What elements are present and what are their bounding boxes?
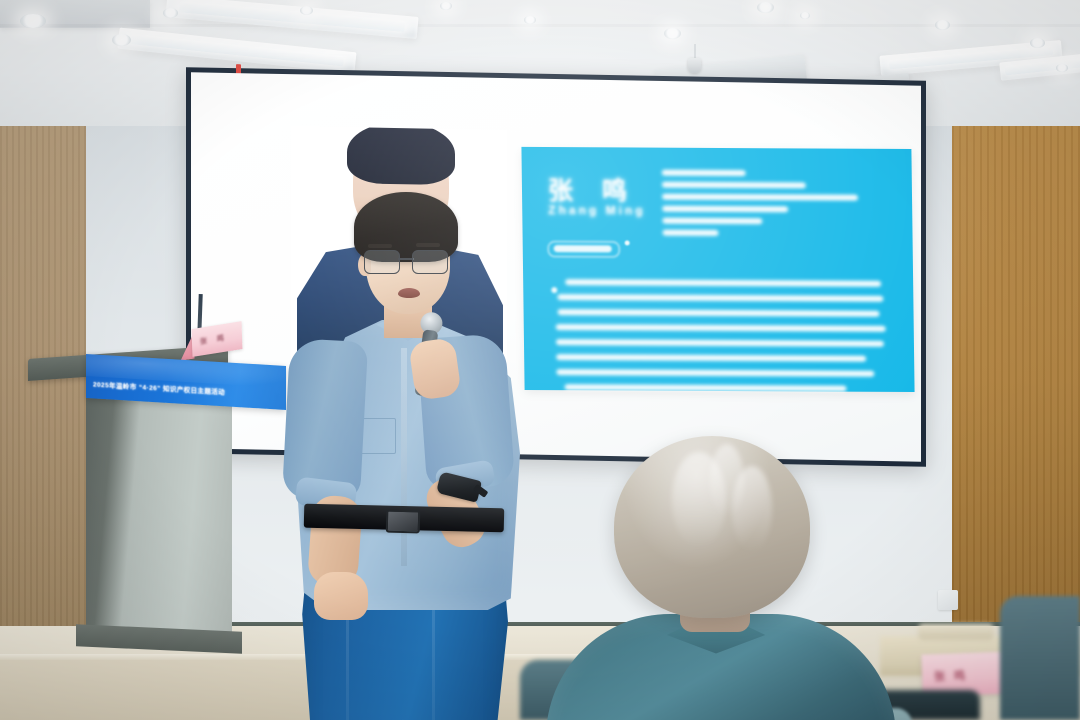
- downlight-icon: [163, 8, 178, 18]
- attendee-name-card-text: 张 鸣: [934, 667, 969, 684]
- slide-text-line: [662, 194, 858, 201]
- linear-light-fixture: [166, 0, 419, 39]
- presenter-left-hand: [314, 572, 368, 620]
- name-tent-text: 张 鸣: [200, 332, 228, 346]
- downlight-icon: [757, 2, 774, 13]
- slide-text-line: [662, 206, 788, 213]
- downlight-icon: [1056, 64, 1068, 72]
- glasses-lens-left: [364, 250, 400, 274]
- downlight-icon: [1030, 38, 1045, 48]
- downlight-icon: [935, 20, 950, 30]
- table-items: [918, 624, 994, 640]
- slide-badge-dot-icon: [625, 240, 630, 245]
- presenter-eyebrow: [416, 243, 440, 247]
- downlight-icon: [524, 16, 536, 24]
- light-tube: [1004, 58, 1080, 75]
- slide-text-line: [565, 279, 881, 287]
- eyeglasses-icon: [362, 250, 454, 274]
- photo-hair: [347, 126, 455, 185]
- slide-badge: [548, 241, 620, 257]
- slide-text-line: [556, 339, 884, 347]
- slide-text-line: [662, 218, 762, 225]
- ceiling-sensor-icon: [688, 58, 701, 73]
- shirt-placket: [401, 348, 407, 566]
- wood-panel-right: [952, 126, 1080, 636]
- presenter-mouth: [398, 288, 420, 298]
- belt-buckle: [386, 510, 421, 534]
- downlight-icon: [800, 12, 810, 19]
- downlight-icon: [664, 28, 681, 39]
- downlight-icon: [20, 14, 46, 28]
- presenter-left-sleeve: [282, 338, 368, 502]
- hair-strand: [732, 466, 772, 552]
- slide-text-line: [662, 230, 718, 236]
- light-tube: [179, 1, 406, 31]
- slide-name-cn: 张 鸣: [548, 171, 638, 207]
- photo-scene: 张 鸣 Zhang Ming: [0, 0, 1080, 720]
- podium-body: [86, 369, 232, 644]
- podium: 张 鸣 2025年温岭市 “4·26” 知识产权日主题活动: [28, 352, 258, 652]
- seated-attendee: [552, 436, 892, 720]
- wall-socket-icon[interactable]: [938, 590, 958, 610]
- slide-badge-fill: [554, 245, 612, 252]
- downlight-icon: [112, 34, 131, 46]
- glasses-lens-right: [412, 250, 448, 274]
- downlight-icon: [440, 2, 452, 10]
- slide-text-line: [558, 309, 880, 317]
- slide-text-line: [662, 170, 746, 176]
- presenter: [258, 180, 558, 720]
- slide-text-line: [557, 294, 883, 302]
- slide-text-line: [565, 384, 847, 391]
- slide-text-line: [556, 324, 886, 332]
- ceiling-edge-line: [0, 24, 1080, 27]
- slide-name-pinyin: Zhang Ming: [548, 203, 646, 218]
- slide-text-line: [556, 369, 874, 377]
- slide-text-line: [556, 354, 866, 362]
- attendee-hair: [614, 436, 810, 618]
- downlight-icon: [300, 6, 313, 15]
- light-tube: [130, 34, 344, 66]
- sensor-stem: [694, 44, 696, 58]
- slide-text-line: [662, 182, 806, 189]
- foreground-chair-right: [1000, 596, 1080, 720]
- slide-cyan-card: 张 鸣 Zhang Ming: [521, 147, 914, 392]
- presenter-eyebrow: [368, 244, 392, 248]
- name-tent-face: 张 鸣: [192, 321, 243, 357]
